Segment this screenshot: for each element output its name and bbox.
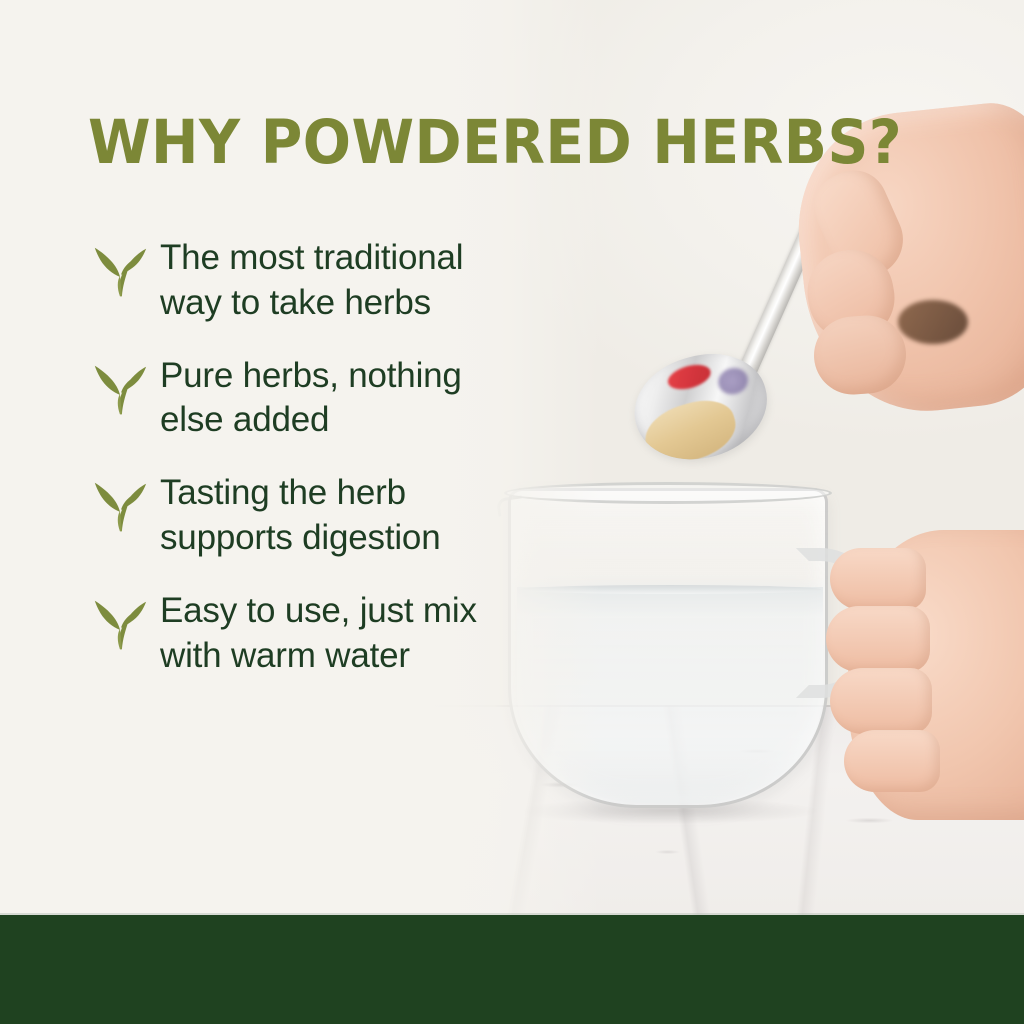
spoon-reflection (715, 365, 751, 398)
sprout-leaf-icon (88, 475, 150, 537)
bottom-bar (0, 915, 1024, 1024)
spoon-reflection (665, 360, 713, 393)
page-title: WHY POWDERED HERBS? (88, 112, 902, 173)
finger (844, 730, 940, 792)
finger (830, 548, 926, 610)
list-item: The most traditional way to take herbs (88, 236, 488, 326)
promo-graphic: WHY POWDERED HERBS? The most traditional… (0, 0, 1024, 1024)
list-item: Easy to use, just mix with warm water (88, 589, 488, 679)
finger (826, 606, 930, 672)
sprout-leaf-icon (88, 593, 150, 655)
list-item-label: Pure herbs, nothing else added (150, 354, 488, 444)
list-item-label: Easy to use, just mix with warm water (150, 589, 488, 679)
finger (830, 668, 932, 734)
benefits-list: The most traditional way to take herbs P… (88, 236, 488, 678)
list-item: Pure herbs, nothing else added (88, 354, 488, 444)
herb-powder (639, 392, 743, 471)
sprout-leaf-icon (88, 240, 150, 302)
sprout-leaf-icon (88, 358, 150, 420)
thumb-shadow (898, 300, 968, 344)
list-item: Tasting the herb supports digestion (88, 471, 488, 561)
list-item-label: Tasting the herb supports digestion (150, 471, 488, 561)
list-item-label: The most traditional way to take herbs (150, 236, 488, 326)
